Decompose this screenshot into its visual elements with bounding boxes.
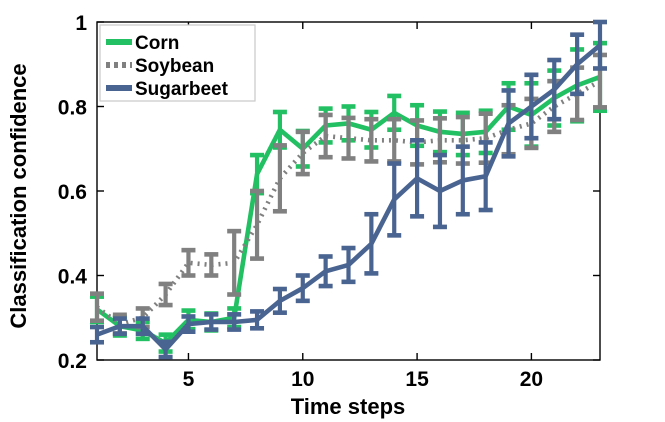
chart-legend: CornSoybeanSugarbeet xyxy=(100,25,255,101)
x-tick-label: 20 xyxy=(520,368,543,391)
legend-label-sugarbeet: Sugarbeet xyxy=(135,79,229,100)
y-tick-label: 0.8 xyxy=(58,97,88,120)
y-tick-label: 0.4 xyxy=(58,266,88,289)
x-tick-label: 5 xyxy=(183,368,195,391)
classification-confidence-line-chart: 5101520 0.20.40.60.81 CornSoybeanSugarbe… xyxy=(0,0,665,422)
x-tick-label: 15 xyxy=(405,368,429,391)
chart-container: 5101520 0.20.40.60.81 CornSoybeanSugarbe… xyxy=(0,0,665,422)
y-tick-label: 1 xyxy=(75,12,87,35)
y-tick-label: 0.2 xyxy=(58,350,87,373)
legend-label-corn: Corn xyxy=(135,33,179,54)
legend-label-soybean: Soybean xyxy=(135,56,214,77)
y-tick-label: 0.6 xyxy=(58,181,87,204)
x-tick-label: 10 xyxy=(291,368,314,391)
x-axis-title: Time steps xyxy=(291,394,406,419)
y-axis-title: Classification confidence xyxy=(6,63,31,328)
